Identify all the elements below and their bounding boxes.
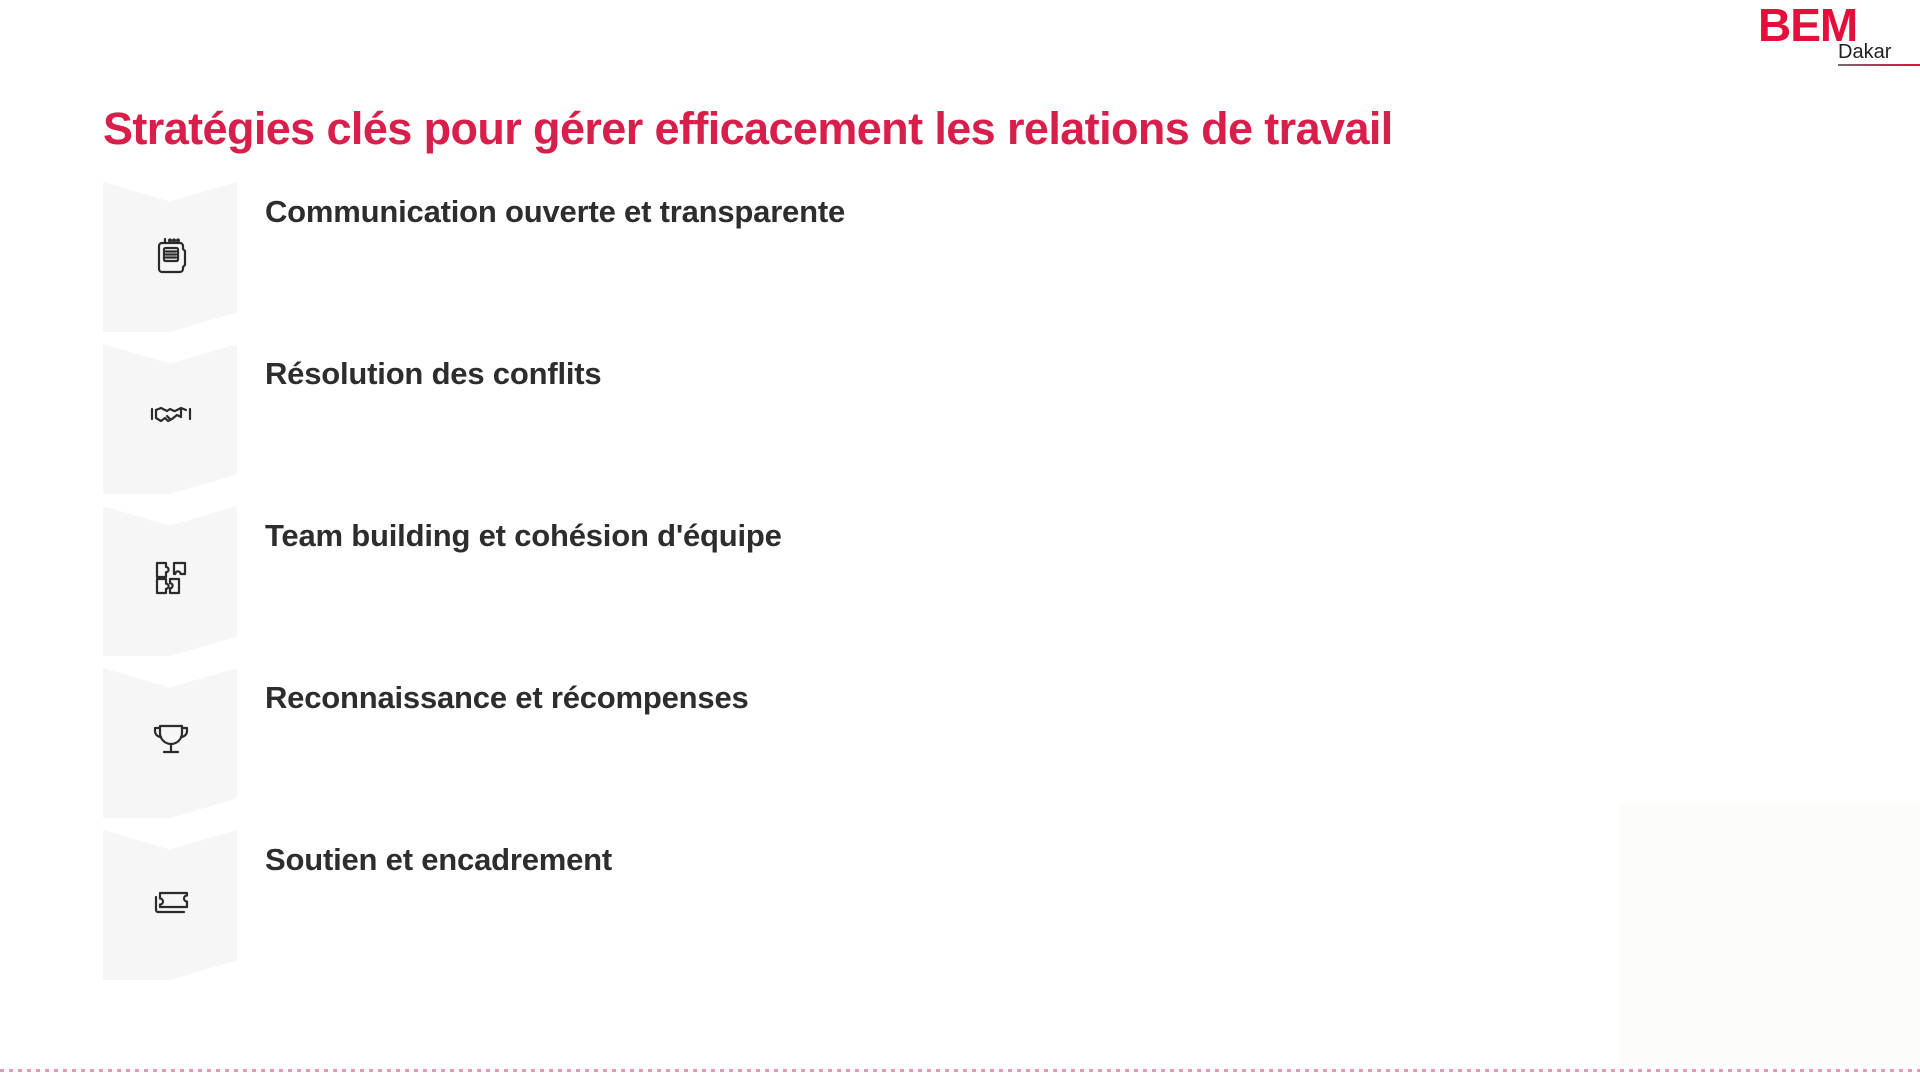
list-item-label: Team building et cohésion d'équipe (265, 516, 782, 556)
list-item-label: Soutien et encadrement (265, 840, 612, 880)
list-item: Team building et cohésion d'équipe (103, 506, 1703, 668)
slide-canvas: BEM Dakar Stratégies clés pour gérer eff… (0, 0, 1920, 1080)
bem-dakar-logo: BEM Dakar (1740, 2, 1920, 66)
list-item: Communication ouverte et transparente (103, 182, 1703, 344)
list-item: Résolution des conflits (103, 344, 1703, 506)
cards-stack-icon (147, 876, 195, 924)
walkie-talkie-icon (147, 228, 195, 276)
logo-subtitle: Dakar (1838, 42, 1891, 62)
list-item-label: Reconnaissance et récompenses (265, 678, 749, 718)
list-item: Soutien et encadrement (103, 830, 1703, 992)
slide-title: Stratégies clés pour gérer efficacement … (103, 102, 1743, 156)
presenter-video-background (1620, 804, 1920, 1066)
bottom-dotted-rule (0, 1069, 1920, 1072)
list-item: Reconnaissance et récompenses (103, 668, 1703, 830)
trophy-icon (147, 714, 195, 762)
presenter-video-overlay[interactable] (1620, 804, 1920, 1066)
strategy-list: Communication ouverte et transparente Ré… (103, 182, 1703, 992)
list-item-label: Communication ouverte et transparente (265, 192, 845, 232)
handshake-icon (147, 390, 195, 438)
logo-underline (1838, 64, 1920, 66)
list-item-label: Résolution des conflits (265, 354, 601, 394)
puzzle-pieces-icon (147, 552, 195, 600)
